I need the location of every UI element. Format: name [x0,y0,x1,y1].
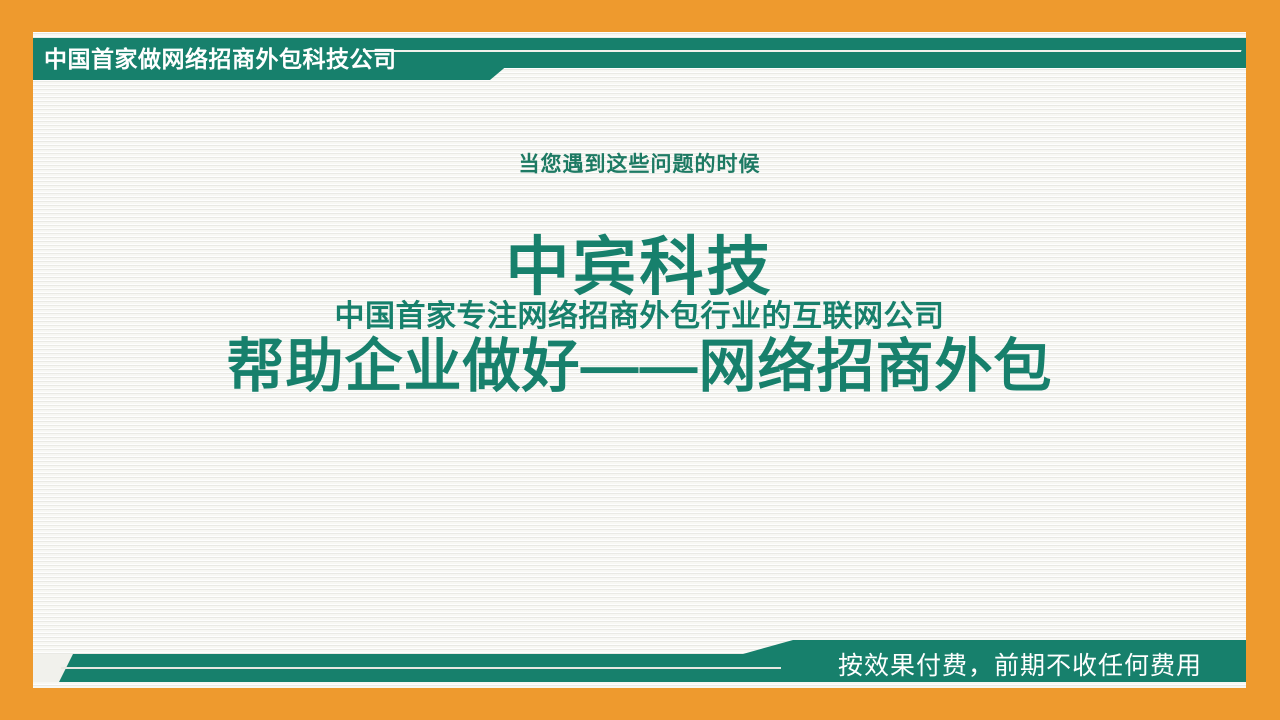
tagline-text: 中国首家专注网络招商外包行业的互联网公司 [33,298,1246,336]
slide-canvas: 中国首家做网络招商外包科技公司 当您遇到这些问题的时候 中宾科技 中国首家专注网… [0,0,1280,720]
brand-name: 中宾科技 [33,232,1246,302]
main-content: 当您遇到这些问题的时候 中宾科技 中国首家专注网络招商外包行业的互联网公司 帮助… [33,150,1246,400]
headline-text: 帮助企业做好——网络招商外包 [33,334,1246,400]
header-title: 中国首家做网络招商外包科技公司 [44,42,484,76]
eyebrow-text: 当您遇到这些问题的时候 [33,150,1246,180]
footer-text: 按效果付费，前期不收任何费用 [800,650,1240,682]
